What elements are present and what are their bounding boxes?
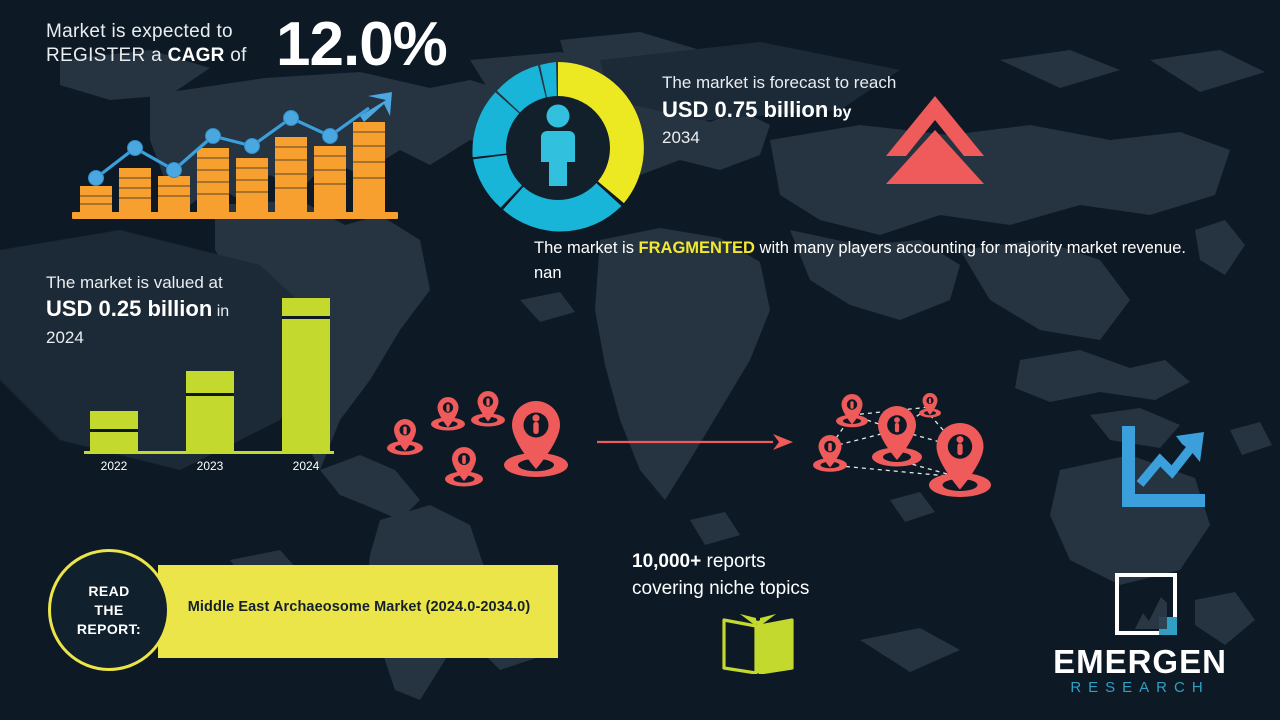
read-report-ribbon[interactable]: Middle East Archaeosome Market (2024.0-2… xyxy=(158,565,558,658)
reports-line2: covering niche topics xyxy=(632,578,809,599)
fragmented-pre: The market is xyxy=(534,239,639,257)
infographic-canvas: Market is expected to REGISTER a CAGR of… xyxy=(0,0,1280,720)
forecast-by: by xyxy=(828,104,851,121)
open-book-icon xyxy=(718,612,798,674)
read-line-3: REPORT: xyxy=(77,621,141,637)
forecast-value: USD 0.75 billion by xyxy=(662,96,902,127)
cagr-label-line2-pre: REGISTER a xyxy=(46,45,168,66)
bar-label-2023: 2023 xyxy=(180,459,240,473)
read-report-badge[interactable]: READ THE REPORT: xyxy=(48,549,170,671)
cagr-label-line2-post: of xyxy=(225,45,247,66)
read-report-label: READ THE REPORT: xyxy=(77,582,141,639)
brand-logo: EMERGEN RESEARCH xyxy=(1020,565,1260,705)
cagr-label: Market is expected to REGISTER a CAGR of xyxy=(46,20,276,68)
cagr-value: 12.0% xyxy=(276,10,447,80)
bar-2022-cap xyxy=(90,429,138,432)
bar-2024 xyxy=(282,298,330,453)
cagr-keyword: CAGR xyxy=(168,45,225,66)
fragmented-statement: The market is FRAGMENTED with many playe… xyxy=(534,236,1214,286)
line-chart-up-icon xyxy=(68,86,413,226)
reports-count: 10,000+ xyxy=(632,551,701,572)
cagr-label-line1: Market is expected to xyxy=(46,21,233,42)
bar-2022 xyxy=(90,411,138,453)
reports-line1-rest: reports xyxy=(701,551,765,572)
square-chart-logo-icon xyxy=(1115,573,1177,635)
person-in-donut-icon xyxy=(468,58,648,238)
right-arrow-icon xyxy=(595,430,795,454)
bar-2023 xyxy=(186,371,234,453)
bar-label-2024: 2024 xyxy=(276,459,336,473)
reports-count-block: 10,000+ reports covering niche topics xyxy=(632,548,932,602)
forecast-amount: USD 0.75 billion xyxy=(662,97,828,122)
brand-subtitle: RESEARCH xyxy=(1020,679,1260,696)
analytics-trend-icon xyxy=(1118,422,1210,514)
fragmented-keyword: FRAGMENTED xyxy=(639,239,755,257)
report-title: Middle East Archaeosome Market (2024.0-2… xyxy=(174,599,544,615)
forecast-lead: The market is forecast to reach xyxy=(662,72,902,94)
location-pins-network-icon xyxy=(800,385,1010,500)
forecast-year: 2034 xyxy=(662,127,902,149)
bar-2024-cap xyxy=(282,316,330,319)
read-line-2: THE xyxy=(94,602,123,618)
market-value-bar-chart: 2022 2023 2024 xyxy=(70,290,350,475)
bar-label-2022: 2022 xyxy=(84,459,144,473)
cagr-block: Market is expected to REGISTER a CAGR of… xyxy=(46,20,466,68)
bar-2023-cap xyxy=(186,393,234,396)
forecast-block: The market is forecast to reach USD 0.75… xyxy=(662,72,902,149)
double-chevron-up-icon xyxy=(880,92,990,184)
brand-name: EMERGEN xyxy=(1020,643,1260,681)
read-line-1: READ xyxy=(88,583,129,599)
location-pins-cluster-icon xyxy=(380,385,580,495)
